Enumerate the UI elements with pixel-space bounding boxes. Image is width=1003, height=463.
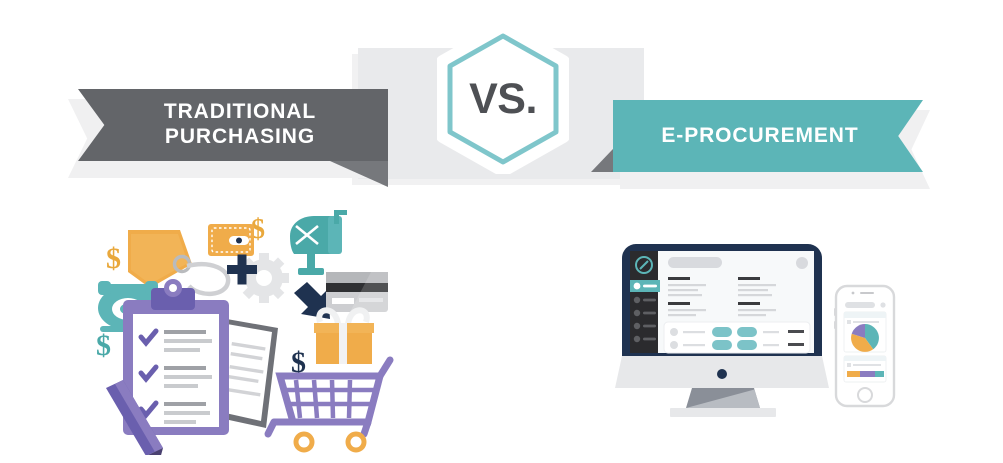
- e-procurement-illustration: [608, 238, 918, 433]
- pie-chart-card: [844, 312, 886, 352]
- monitor-screen: [630, 251, 814, 353]
- monitor-base: [670, 408, 776, 417]
- gift-box-icon: [314, 310, 374, 364]
- user-avatar[interactable]: [796, 257, 808, 269]
- desktop-monitor: [615, 244, 829, 417]
- infographic-canvas: TRADITIONAL PURCHASING E-PROCUREMENT VS.…: [0, 0, 1003, 463]
- traditional-purchasing-illustration: $ $ $ $: [88, 210, 398, 455]
- phone-avatar: [880, 302, 885, 307]
- phone-screen: [842, 299, 888, 385]
- phone-search-bar: [845, 302, 875, 308]
- right-banner-label: E-PROCUREMENT: [613, 100, 923, 172]
- stacked-bar: [847, 371, 884, 377]
- left-banner-line1: TRADITIONAL: [164, 100, 316, 125]
- monitor-power-dot: [717, 369, 727, 379]
- dollar-sign-icon: $: [96, 329, 111, 362]
- left-banner-line2: PURCHASING: [165, 125, 315, 150]
- sidebar-item-active[interactable]: [630, 280, 660, 292]
- wallet-icon: [208, 224, 254, 256]
- search-bar[interactable]: [668, 257, 722, 268]
- progress-bar-card: [844, 356, 886, 382]
- left-banner-label: TRADITIONAL PURCHASING: [78, 89, 388, 161]
- dollar-sign-icon: $: [106, 242, 121, 275]
- screen-sidebar: [630, 251, 660, 353]
- phone-speaker: [860, 292, 874, 294]
- data-table: [664, 322, 810, 353]
- phone-camera-icon: [852, 292, 855, 295]
- vs-badge: VS.: [437, 24, 569, 174]
- mailbox-icon: [290, 210, 347, 275]
- credit-card-icon: [326, 272, 388, 312]
- smartphone: [834, 286, 894, 406]
- vs-label: VS.: [437, 24, 569, 174]
- shopping-cart-icon: [268, 360, 390, 450]
- pie-chart: [851, 324, 879, 352]
